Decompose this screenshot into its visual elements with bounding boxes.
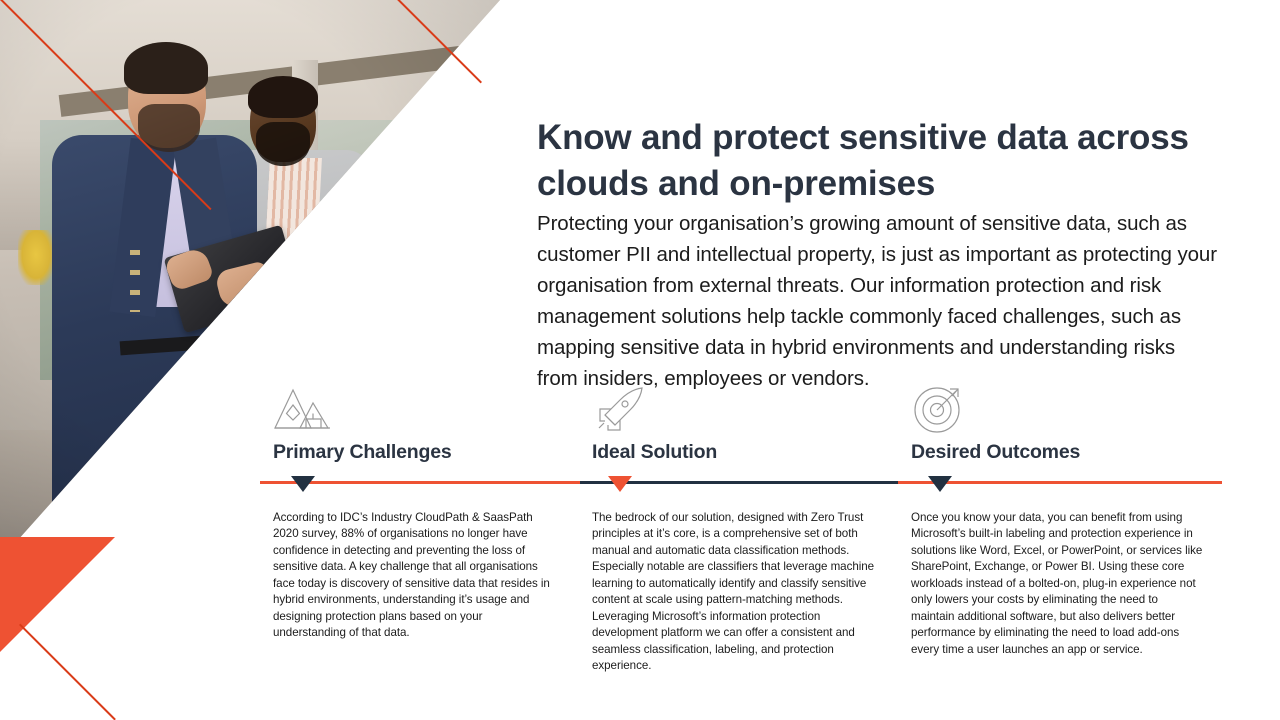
target-arrow-icon	[911, 383, 971, 435]
slide-canvas: Know and protect sensitive data across c…	[0, 0, 1280, 720]
decorative-orange-triangle	[0, 537, 115, 652]
divider-marker-primary-challenges	[291, 476, 315, 492]
photo-illustration	[0, 0, 500, 560]
intro-paragraph: Protecting your organisation’s growing a…	[537, 208, 1221, 395]
decorative-diagonal-line-bottom-left	[19, 624, 116, 720]
column-body-primary-challenges: According to IDC’s Industry CloudPath & …	[273, 510, 556, 642]
mountains-icon	[273, 383, 333, 435]
page-title: Know and protect sensitive data across c…	[537, 115, 1217, 205]
photo-background-crowd	[330, 150, 490, 380]
column-title-desired-outcomes: Desired Outcomes	[911, 441, 1206, 464]
rocket-icon	[592, 383, 652, 435]
column-primary-challenges: Primary Challenges According to IDC’s In…	[273, 383, 563, 464]
divider-marker-desired-outcomes	[928, 476, 952, 492]
column-body-ideal-solution: The bedrock of our solution, designed wi…	[592, 510, 879, 675]
hero-photo	[0, 0, 500, 560]
column-body-desired-outcomes: Once you know your data, you can benefit…	[911, 510, 1203, 658]
column-title-ideal-solution: Ideal Solution	[592, 441, 882, 464]
photo-vignette	[0, 0, 500, 560]
column-title-primary-challenges: Primary Challenges	[273, 441, 563, 464]
divider-marker-ideal-solution	[608, 476, 632, 492]
photo-tree	[330, 140, 500, 310]
section-divider	[260, 481, 1222, 484]
column-desired-outcomes: Desired Outcomes Once you know your data…	[911, 383, 1206, 464]
column-ideal-solution: Ideal Solution The bedrock of our soluti…	[592, 383, 882, 464]
